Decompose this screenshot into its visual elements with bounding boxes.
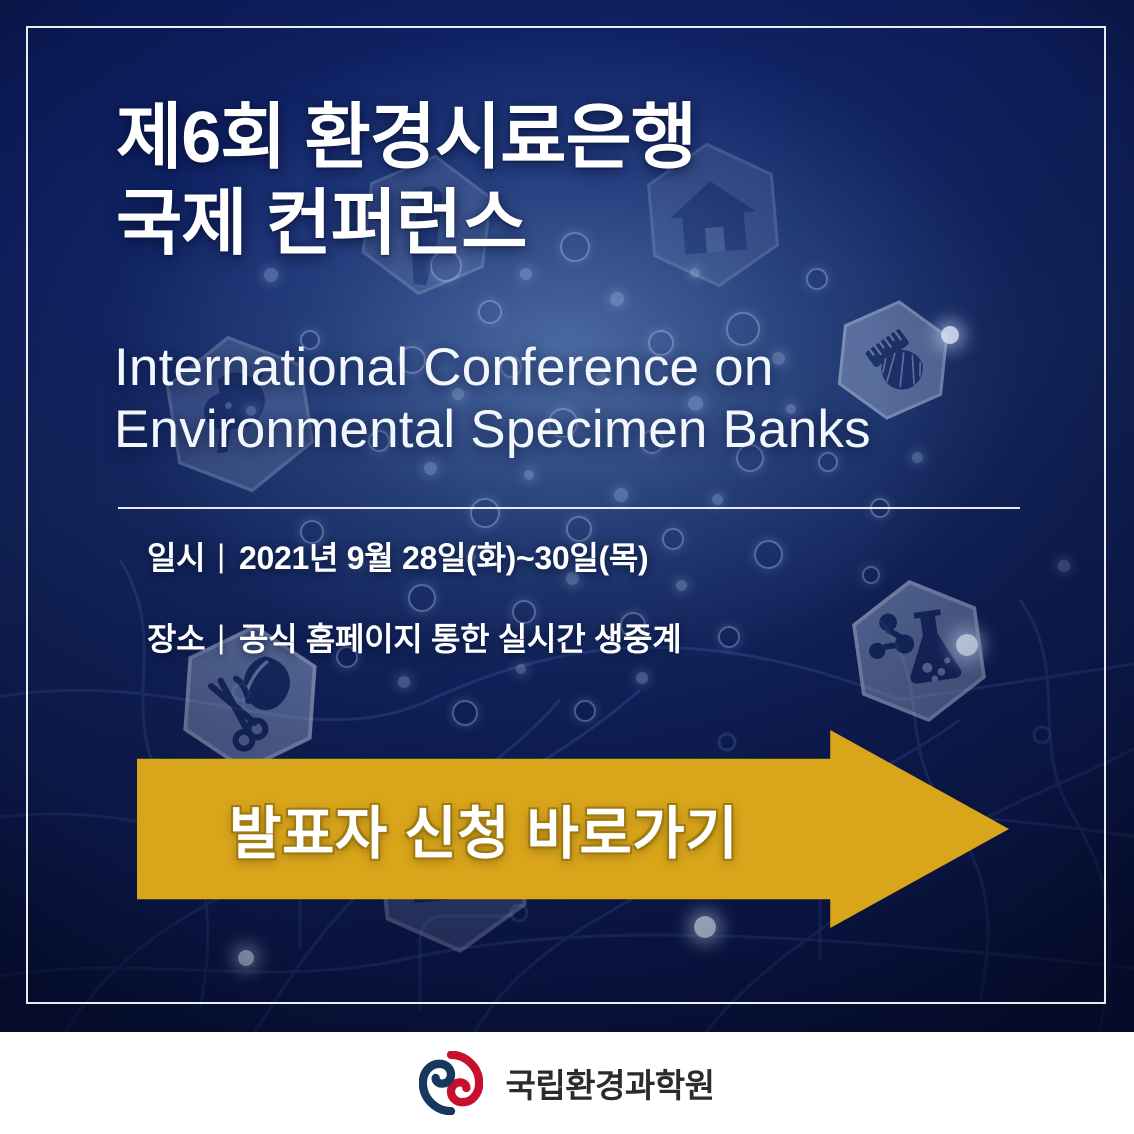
footer-bar: 국립환경과학원: [0, 1032, 1134, 1134]
title-divider: [118, 507, 1020, 509]
taegeuk-logo-icon: [419, 1051, 483, 1115]
page-title-korean: 제6회 환경시료은행 국제 컨퍼런스: [116, 96, 976, 267]
presenter-application-label: 발표자 신청 바로가기: [137, 730, 830, 928]
detail-separator-venue: |: [217, 619, 225, 656]
conference-poster: 제6회 환경시료은행 국제 컨퍼런스 International Confere…: [0, 0, 1134, 1134]
poster-artwork-panel: 제6회 환경시료은행 국제 컨퍼런스 International Confere…: [0, 0, 1134, 1032]
detail-value-venue: 공식 홈페이지 통한 실시간 생중계: [239, 614, 681, 660]
presenter-application-button[interactable]: 발표자 신청 바로가기: [137, 730, 1009, 928]
detail-label-venue: 장소: [147, 614, 207, 660]
event-details-list: 일시 | 2021년 9월 28일(화)~30일(목) 장소 | 공식 홈페이지…: [147, 527, 1027, 666]
page-subtitle-english: International Conference on Environmenta…: [114, 337, 1014, 461]
event-detail-venue: 장소 | 공식 홈페이지 통한 실시간 생중계: [147, 608, 1027, 666]
poster-content: 제6회 환경시료은행 국제 컨퍼런스 International Confere…: [0, 0, 1134, 1032]
event-detail-date: 일시 | 2021년 9월 28일(화)~30일(목): [147, 527, 1027, 585]
detail-label-date: 일시: [147, 533, 207, 579]
organization-name: 국립환경과학원: [505, 1059, 714, 1107]
detail-separator-date: |: [217, 538, 225, 575]
detail-value-date: 2021년 9월 28일(화)~30일(목): [239, 533, 648, 579]
